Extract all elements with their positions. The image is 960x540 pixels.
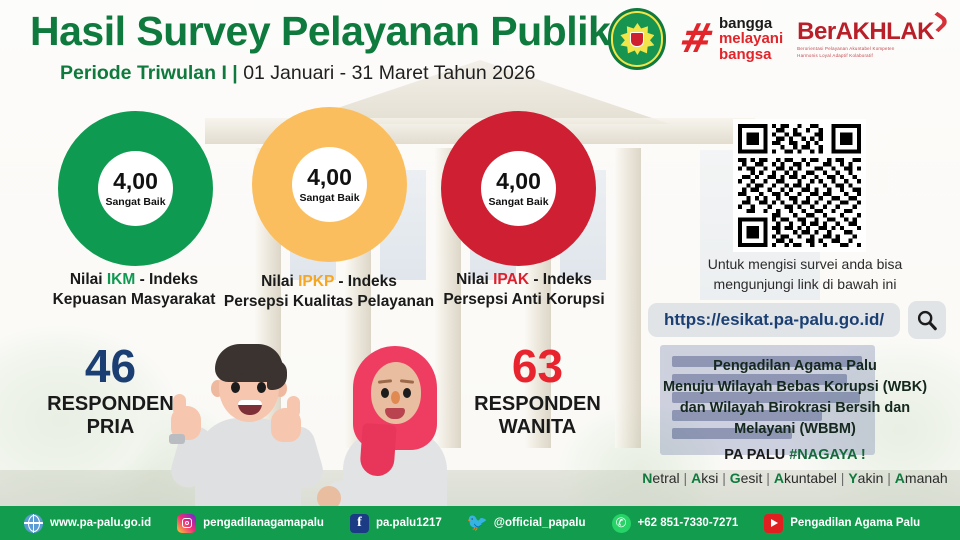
ipkp-grade: Sangat Baik	[299, 192, 359, 204]
subtitle-separator: |	[232, 62, 237, 84]
whatsapp-icon: ✆	[612, 514, 631, 533]
footer-item[interactable]: pengadilanagamapalu	[177, 514, 324, 533]
nagaya-value-item: Gesit	[730, 470, 763, 486]
wbk-statement: Pengadilan Agama Palu Menuju Wilayah Beb…	[640, 356, 950, 440]
ipak-caption-mid: - Indeks	[529, 271, 592, 288]
page-subtitle: Periode Triwulan I | 01 Januari - 31 Mar…	[60, 62, 536, 85]
wbk-line2: Menuju Wilayah Bebas Korupsi (WBK)	[640, 377, 950, 398]
nagaya-value-initial: N	[642, 470, 652, 486]
ipak-caption-line2: Persepsi Anti Korupsi	[390, 290, 658, 310]
survey-note-line2: mengunjungi link di bawah ini	[660, 275, 950, 295]
wbk-line1: Pengadilan Agama Palu	[640, 356, 950, 377]
survey-url-link[interactable]: https://esikat.pa-palu.go.id/	[648, 303, 900, 337]
nagaya-value-initial: A	[691, 470, 701, 486]
ipak-caption-pre: Nilai	[456, 271, 493, 288]
male-thumb-left	[173, 394, 186, 416]
male-eye-left	[231, 382, 240, 393]
nagaya-values-list: Netral | Aksi | Gesit | Akuntabel | Yaki…	[630, 470, 960, 486]
index-caption-ipak: Nilai IPAK - Indeks Persepsi Anti Korups…	[390, 270, 658, 311]
twitter-icon: 🐦	[468, 514, 487, 533]
page-title: Hasil Survey Pelayanan Publik	[30, 8, 610, 55]
instagram-icon	[177, 514, 196, 533]
nagaya-value-rest: kuntabel	[784, 470, 837, 486]
berakhlak-sub-1: Berorientasi Pelayanan Akuntabel Kompete…	[797, 46, 934, 53]
footer-bar: www.pa-palu.go.idpengadilanagamapalufpa.…	[0, 506, 960, 540]
ikm-value: 4,00	[113, 170, 158, 193]
footer-item[interactable]: www.pa-palu.go.id	[24, 514, 151, 533]
female-hijab-drape	[359, 423, 397, 477]
subtitle-period: Periode Triwulan I	[60, 62, 227, 84]
footer-item[interactable]: Pengadilan Agama Palu	[764, 514, 920, 533]
nagaya-value-item: Yakin	[848, 470, 883, 486]
bangga-melayani-bangsa-logo: # bangga melayani bangsa	[680, 16, 783, 62]
nagaya-prefix: PA PALU	[724, 447, 789, 463]
nagaya-value-item: Akuntabel	[774, 470, 837, 486]
value-separator: |	[883, 470, 894, 486]
bangga-line-2: melayani	[719, 31, 783, 46]
survey-note-line1: Untuk mengisi survei anda bisa	[660, 255, 950, 275]
nagaya-hashtag: #NAGAYA !	[789, 447, 866, 463]
berakhlak-wordmark: BerAKHLAK	[797, 18, 934, 46]
footer-item-label: Pengadilan Agama Palu	[790, 517, 920, 529]
ipak-caption-key: IPAK	[493, 271, 529, 288]
female-eye-left	[381, 388, 389, 398]
ipkp-caption-pre: Nilai	[261, 273, 298, 290]
female-eye-right	[403, 388, 411, 398]
ipkp-caption-key: IPKP	[298, 273, 334, 290]
footer-item-label: pengadilanagamapalu	[203, 517, 324, 529]
bangga-line-3: bangsa	[719, 47, 783, 62]
nagaya-value-item: Amanah	[895, 470, 948, 486]
ikm-caption-pre: Nilai	[70, 271, 107, 288]
footer-item-label: pa.palu1217	[376, 517, 442, 529]
berakhlak-logo: BerAKHLAK Berorientasi Pelayanan Akuntab…	[797, 18, 944, 59]
index-donut-ipkp: 4,00 Sangat Baik	[252, 107, 407, 262]
globe-icon	[24, 514, 43, 533]
facebook-icon: f	[350, 514, 369, 533]
footer-item[interactable]: 🐦@official_papalu	[468, 514, 586, 533]
value-separator: |	[762, 470, 773, 486]
footer-item-label: @official_papalu	[494, 517, 586, 529]
ipkp-value: 4,00	[307, 166, 352, 189]
nagaya-value-initial: A	[774, 470, 784, 486]
nagaya-value-rest: ksi	[701, 470, 718, 486]
logo-group: # bangga melayani bangsa BerAKHLAK Beror…	[608, 8, 944, 70]
hashtag-icon: #	[677, 22, 718, 56]
nagaya-value-rest: akin	[858, 470, 884, 486]
footer-item[interactable]: ✆+62 851-7330-7271	[612, 514, 739, 533]
nagaya-value-initial: Y	[848, 470, 857, 486]
ipkp-caption-mid: - Indeks	[334, 273, 397, 290]
bangga-line-1: bangga	[719, 16, 783, 31]
nagaya-value-initial: A	[895, 470, 905, 486]
wbk-line4: Melayani (WBBM)	[640, 419, 950, 440]
nagaya-tagline: PA PALU #NAGAYA !	[640, 447, 950, 463]
nagaya-value-item: Netral	[642, 470, 679, 486]
pengadilan-agama-palu-seal-icon	[608, 8, 666, 70]
male-eye-right	[257, 382, 266, 393]
berakhlak-sub-2: Harmonis Loyal Adaptif Kolaboratif	[797, 53, 934, 60]
footer-item-label: +62 851-7330-7271	[638, 517, 739, 529]
male-thumb-right	[287, 396, 300, 418]
ikm-grade: Sangat Baik	[105, 196, 165, 208]
qr-code[interactable]	[733, 119, 866, 252]
ipak-value: 4,00	[496, 170, 541, 193]
index-donut-ikm: 4,00 Sangat Baik	[58, 111, 213, 266]
male-wristwatch	[169, 434, 185, 444]
female-nose	[391, 391, 400, 404]
youtube-icon	[764, 514, 783, 533]
ikm-caption-key: IKM	[107, 271, 135, 288]
ikm-caption-mid: - Indeks	[135, 271, 198, 288]
search-button[interactable]	[908, 301, 946, 339]
nagaya-value-rest: manah	[905, 470, 948, 486]
value-separator: |	[718, 470, 729, 486]
index-donut-ipak: 4,00 Sangat Baik	[441, 111, 596, 266]
ipak-grade: Sangat Baik	[488, 196, 548, 208]
nagaya-value-item: Aksi	[691, 470, 718, 486]
footer-item[interactable]: fpa.palu1217	[350, 514, 442, 533]
magnifier-icon	[916, 309, 938, 331]
nagaya-value-initial: G	[730, 470, 741, 486]
survey-link-row: https://esikat.pa-palu.go.id/	[648, 301, 946, 339]
subtitle-daterange: 01 Januari - 31 Maret Tahun 2026	[243, 62, 535, 84]
footer-item-label: www.pa-palu.go.id	[50, 517, 151, 529]
survey-instruction-note: Untuk mengisi survei anda bisa mengunjun…	[660, 255, 950, 295]
nagaya-value-rest: esit	[741, 470, 763, 486]
value-separator: |	[680, 470, 691, 486]
character-illustration	[175, 330, 475, 515]
nagaya-value-rest: etral	[652, 470, 679, 486]
value-separator: |	[837, 470, 848, 486]
wbk-line3: dan Wilayah Birokrasi Bersih dan	[640, 398, 950, 419]
